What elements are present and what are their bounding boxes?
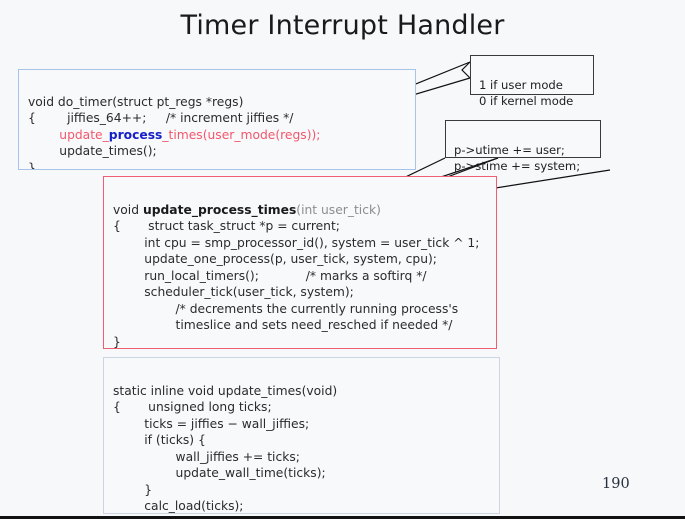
- code-line: { struct task_struct *p = current;: [113, 218, 496, 235]
- code-block-do-timer: void do_timer(struct pt_regs *regs){ jif…: [18, 69, 416, 170]
- callout-line: 0 if kernel mode: [479, 93, 585, 109]
- code-line: { unsigned long ticks;: [113, 399, 499, 416]
- code-line: update_times();: [28, 143, 415, 160]
- code-block-update-times: static inline void update_times(void){ u…: [103, 357, 500, 514]
- page-title: Timer Interrupt Handler: [0, 10, 685, 41]
- code-line: static inline void update_times(void): [113, 383, 499, 400]
- code-line: scheduler_tick(user_tick, system);: [113, 284, 496, 301]
- code-line: run_local_timers(); /* marks a softirq *…: [113, 268, 496, 285]
- code-token-params: (int user_tick): [296, 203, 381, 217]
- page-number: 190: [602, 476, 630, 492]
- code-line-highlighted: update_process_times(user_mode(regs));: [28, 127, 415, 144]
- code-line: void do_timer(struct pt_regs *regs): [28, 94, 415, 111]
- callout-line: 1 if user mode: [479, 77, 585, 93]
- code-indent: [28, 128, 59, 142]
- callout-line: p->stime += system;: [454, 158, 592, 174]
- callout-time-accounting: p->utime += user;p->stime += system;: [445, 120, 601, 158]
- callout-line: p->utime += user;: [454, 142, 592, 158]
- connector-usermode-upper: [462, 62, 470, 78]
- code-line: int cpu = smp_processor_id(), system = u…: [113, 235, 496, 252]
- slide-canvas: Timer Interrupt Handler void do_timer(st…: [0, 0, 685, 519]
- code-line: wall_jiffies += ticks;: [113, 449, 499, 466]
- code-token-times-call: _times(user_mode(regs));: [162, 128, 320, 142]
- code-line: update_one_process(p, user_tick, system,…: [113, 251, 496, 268]
- code-line: update_wall_time(ticks);: [113, 465, 499, 482]
- callout-user-mode: 1 if user mode0 if kernel mode: [470, 55, 594, 95]
- code-token-process: process: [109, 128, 163, 142]
- code-token-void: void: [113, 203, 143, 217]
- code-line-signature: void update_process_times(int user_tick): [113, 202, 496, 219]
- code-line: ticks = jiffies − wall_jiffies;: [113, 416, 499, 433]
- code-line: if (ticks) {: [113, 432, 499, 449]
- code-block-update-process-times: void update_process_times(int user_tick)…: [103, 176, 497, 349]
- code-token-update-prefix: update_: [59, 128, 108, 142]
- code-token-function-name: update_process_times: [143, 203, 296, 217]
- code-line: timeslice and sets need_resched if neede…: [113, 317, 496, 334]
- code-line: /* decrements the currently running proc…: [113, 301, 496, 318]
- code-line: }: [28, 160, 415, 171]
- code-line: }: [113, 482, 499, 499]
- code-line: }: [113, 334, 496, 350]
- code-line: { jiffies_64++; /* increment jiffies */: [28, 110, 415, 127]
- code-line: calc_load(ticks);: [113, 498, 499, 514]
